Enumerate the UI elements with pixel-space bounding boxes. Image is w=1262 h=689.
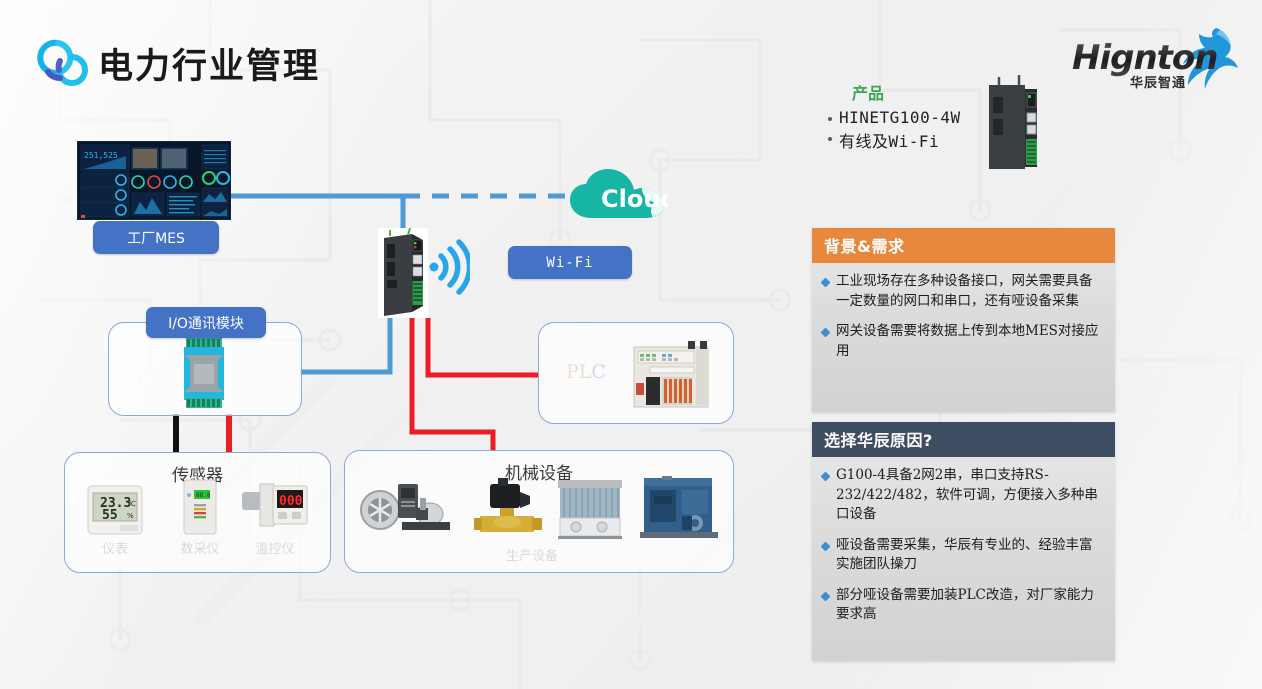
brand-logo: Hignton 华辰智通 [1070,20,1246,92]
cloud-label: Cloud [601,185,668,213]
svg-text:88.8: 88.8 [196,492,211,499]
panel-bullet-text: 哑设备需要采集，华辰有专业的、经验丰富实施团队操刀 [836,536,1103,575]
svg-text:℃: ℃ [128,500,136,508]
wifi-waves-icon [428,236,470,298]
mes-dashboard-screen: 251,525 [77,141,231,220]
page-title: 电力行业管理 [98,38,320,89]
svg-text:251,525: 251,525 [84,151,118,160]
panel-bullet: G100-4具备2网2串，串口支持RS-232/422/482，软件可调，方便接… [822,466,1103,525]
panel-bullet-text: 部分哑设备需要加装PLC改造，对厂家能力要求高 [836,586,1103,625]
bullet-dot-icon [828,117,832,121]
diamond-bullet-icon [821,472,831,482]
panel-bullet: 网关设备需要将数据上传到本地MES对接应用 [822,322,1103,361]
diamond-bullet-icon [821,278,831,288]
diamond-bullet-icon [821,541,831,551]
boiler-unit-icon [638,476,720,542]
product-item-label: 有线及Wi-Fi [839,128,939,152]
panel-bullet: 部分哑设备需要加装PLC改造，对厂家能力要求高 [822,586,1103,625]
app-logo-icon [28,35,90,89]
thermo-hygrometer-icon: 23.3 ℃ 55 % [86,484,144,536]
panel-bullet: 哑设备需要采集，华辰有专业的、经验丰富实施团队操刀 [822,536,1103,575]
data-logger-icon: 88.8 [182,478,218,536]
temperature-controller-icon: 000 [240,478,310,534]
gateway-device-photo [985,75,1041,175]
fan-pump-icon [358,478,458,540]
io-communication-module-photo [178,334,230,410]
diamond-bullet-icon [821,328,831,338]
brand-sub-name: 华辰智通 [1130,72,1186,91]
hinet-gateway-photo [378,228,428,318]
panel-title: 背景&需求 [812,228,1115,263]
cloud-icon: Cloud [568,168,668,222]
panel-bullet-text: 工业现场存在多种设备接口，网关需要具备一定数量的网口和串口，还有哑设备采集 [836,272,1103,311]
label-wifi[interactable]: Wi-Fi [508,246,632,279]
diamond-bullet-icon [821,591,831,601]
label-factory-mes[interactable]: 工厂MES [93,221,219,254]
panel-bullet: 工业现场存在多种设备接口，网关需要具备一定数量的网口和串口，还有哑设备采集 [822,272,1103,311]
humidity-reading: 55 [102,508,118,523]
panel-bullet-text: 网关设备需要将数据上传到本地MES对接应用 [836,322,1103,361]
plc-device-photo [628,335,718,413]
product-item-label: HINETG100-4W [839,108,961,127]
panel-title: 选择华辰原因? [812,422,1115,457]
bullet-dot-icon [828,137,832,141]
panel-background-requirements: 背景&需求 工业现场存在多种设备接口，网关需要具备一定数量的网口和串口，还有哑设… [812,228,1115,412]
panel-body: G100-4具备2网2串，串口支持RS-232/422/482，软件可调，方便接… [812,457,1115,661]
panel-bullet-text: G100-4具备2网2串，串口支持RS-232/422/482，软件可调，方便接… [836,466,1103,525]
solenoid-valve-icon [472,478,550,540]
svg-text:%: % [127,512,134,520]
chiller-unit-icon [554,478,626,540]
panel-why-choose: 选择华辰原因? G100-4具备2网2串，串口支持RS-232/422/482，… [812,422,1115,661]
panel-body: 工业现场存在多种设备接口，网关需要具备一定数量的网口和串口，还有哑设备采集 网关… [812,263,1115,412]
label-io-module[interactable]: I/O通讯模块 [146,307,266,338]
controller-display: 000 [279,494,303,509]
